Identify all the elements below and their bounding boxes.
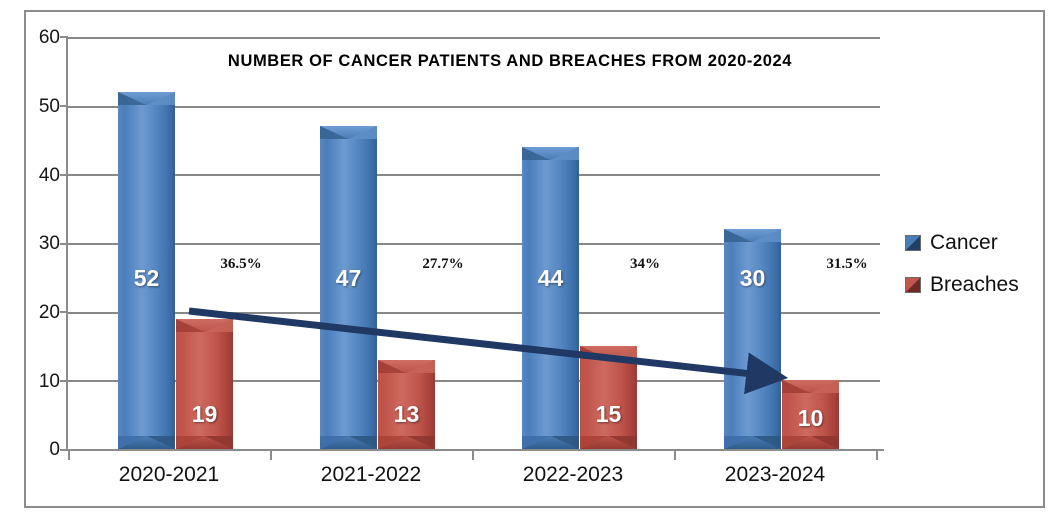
bar-value-label: 47 (320, 265, 377, 292)
x-axis-line (68, 449, 884, 451)
x-axis-label-2022-2023: 2022-2023 (473, 463, 673, 487)
y-tick-label: 30 (14, 234, 60, 253)
bar-body (176, 319, 233, 449)
bar-cancer-2020-2021[interactable]: 52 (118, 92, 175, 449)
bar-value-label: 13 (378, 401, 435, 428)
bar-value-label: 52 (118, 265, 175, 292)
y-tick-label: 60 (14, 28, 60, 47)
bar-cancer-2022-2023[interactable]: 44 (522, 147, 579, 449)
x-axis-tick (674, 451, 676, 460)
chart-legend: Cancer Breaches (905, 222, 1045, 306)
bar-breaches-2021-2022[interactable]: 13 (378, 360, 435, 449)
y-axis-tick (60, 449, 68, 451)
bar-cancer-2023-2024[interactable]: 30 (724, 229, 781, 449)
cancer-swatch-icon (905, 235, 921, 251)
y-axis-tick (60, 36, 68, 38)
y-tick-label: 0 (14, 440, 60, 459)
y-axis: 60 50 40 30 20 10 0 (10, 0, 60, 519)
bar-breaches-2022-2023[interactable]: 15 (580, 346, 637, 449)
legend-label-cancer: Cancer (930, 231, 998, 255)
x-axis-label-2021-2022: 2021-2022 (271, 463, 471, 487)
bar-value-label: 15 (580, 401, 637, 428)
legend-item-breaches[interactable]: Breaches (905, 264, 1045, 306)
legend-item-cancer[interactable]: Cancer (905, 222, 1045, 264)
bar-cancer-2021-2022[interactable]: 47 (320, 126, 377, 449)
percentage-label-2020-2021: 36.5% (186, 256, 296, 273)
chart-title: NUMBER OF CANCER PATIENTS AND BREACHES F… (130, 52, 890, 71)
y-tick-label: 10 (14, 372, 60, 391)
x-axis-tick (270, 451, 272, 460)
breaches-swatch-icon (905, 277, 921, 293)
percentage-label-2021-2022: 27.7% (388, 256, 498, 273)
bar-value-label: 19 (176, 401, 233, 428)
y-tick-label: 40 (14, 166, 60, 185)
y-axis-tick (60, 174, 68, 176)
gridline (68, 106, 880, 108)
bar-body (522, 147, 579, 449)
y-axis-tick (60, 380, 68, 382)
y-tick-label: 50 (14, 97, 60, 116)
percentage-label-2023-2024: 31.5% (792, 256, 902, 273)
x-axis-tick (876, 451, 878, 460)
bar-value-label: 10 (782, 405, 839, 432)
bar-breaches-2020-2021[interactable]: 19 (176, 319, 233, 449)
x-axis-tick (68, 451, 70, 460)
plot-area: 52 19 36.5% 47 (68, 37, 880, 449)
gridline (68, 37, 880, 39)
bar-body (580, 346, 637, 449)
x-axis-label-2020-2021: 2020-2021 (69, 463, 269, 487)
y-axis-tick (60, 243, 68, 245)
x-axis-tick (472, 451, 474, 460)
chart-container: 60 50 40 30 20 10 0 52 (0, 0, 1058, 519)
y-axis-tick (60, 311, 68, 313)
percentage-label-2022-2023: 34% (590, 256, 700, 273)
bar-value-label: 30 (724, 265, 781, 292)
x-axis-label-2023-2024: 2023-2024 (675, 463, 875, 487)
bar-body (724, 229, 781, 449)
legend-label-breaches: Breaches (930, 273, 1019, 297)
bar-value-label: 44 (522, 265, 579, 292)
gridline (68, 174, 880, 176)
bar-breaches-2023-2024[interactable]: 10 (782, 380, 839, 449)
y-tick-label: 20 (14, 303, 60, 322)
y-axis-tick (60, 105, 68, 107)
